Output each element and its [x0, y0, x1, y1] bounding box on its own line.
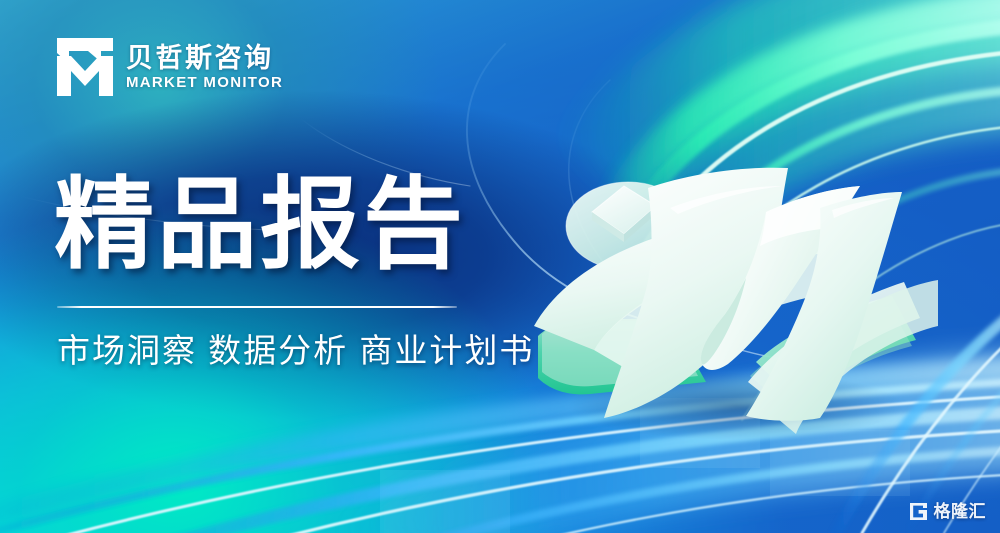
page-title: 精品报告	[54, 172, 466, 278]
watermark-text: 格隆汇	[934, 503, 987, 520]
brand-logo[interactable]: 贝哲斯咨询 MARKET MONITOR	[57, 38, 283, 96]
market-monitor-m-mark-icon	[57, 38, 113, 96]
brand-name-cn: 贝哲斯咨询	[126, 45, 283, 72]
open-book-illustration	[520, 150, 940, 440]
title-divider	[57, 306, 457, 308]
watermark: 格隆汇	[909, 502, 987, 521]
report-banner: 贝哲斯咨询 MARKET MONITOR 精品报告 市场洞察 数据分析 商业计划…	[0, 0, 1000, 533]
gelonghui-g-mark-icon	[909, 502, 928, 521]
brand-name-en: MARKET MONITOR	[126, 75, 283, 90]
brand-logo-text: 贝哲斯咨询 MARKET MONITOR	[126, 45, 283, 90]
page-subtitle: 市场洞察 数据分析 商业计划书	[57, 330, 534, 373]
